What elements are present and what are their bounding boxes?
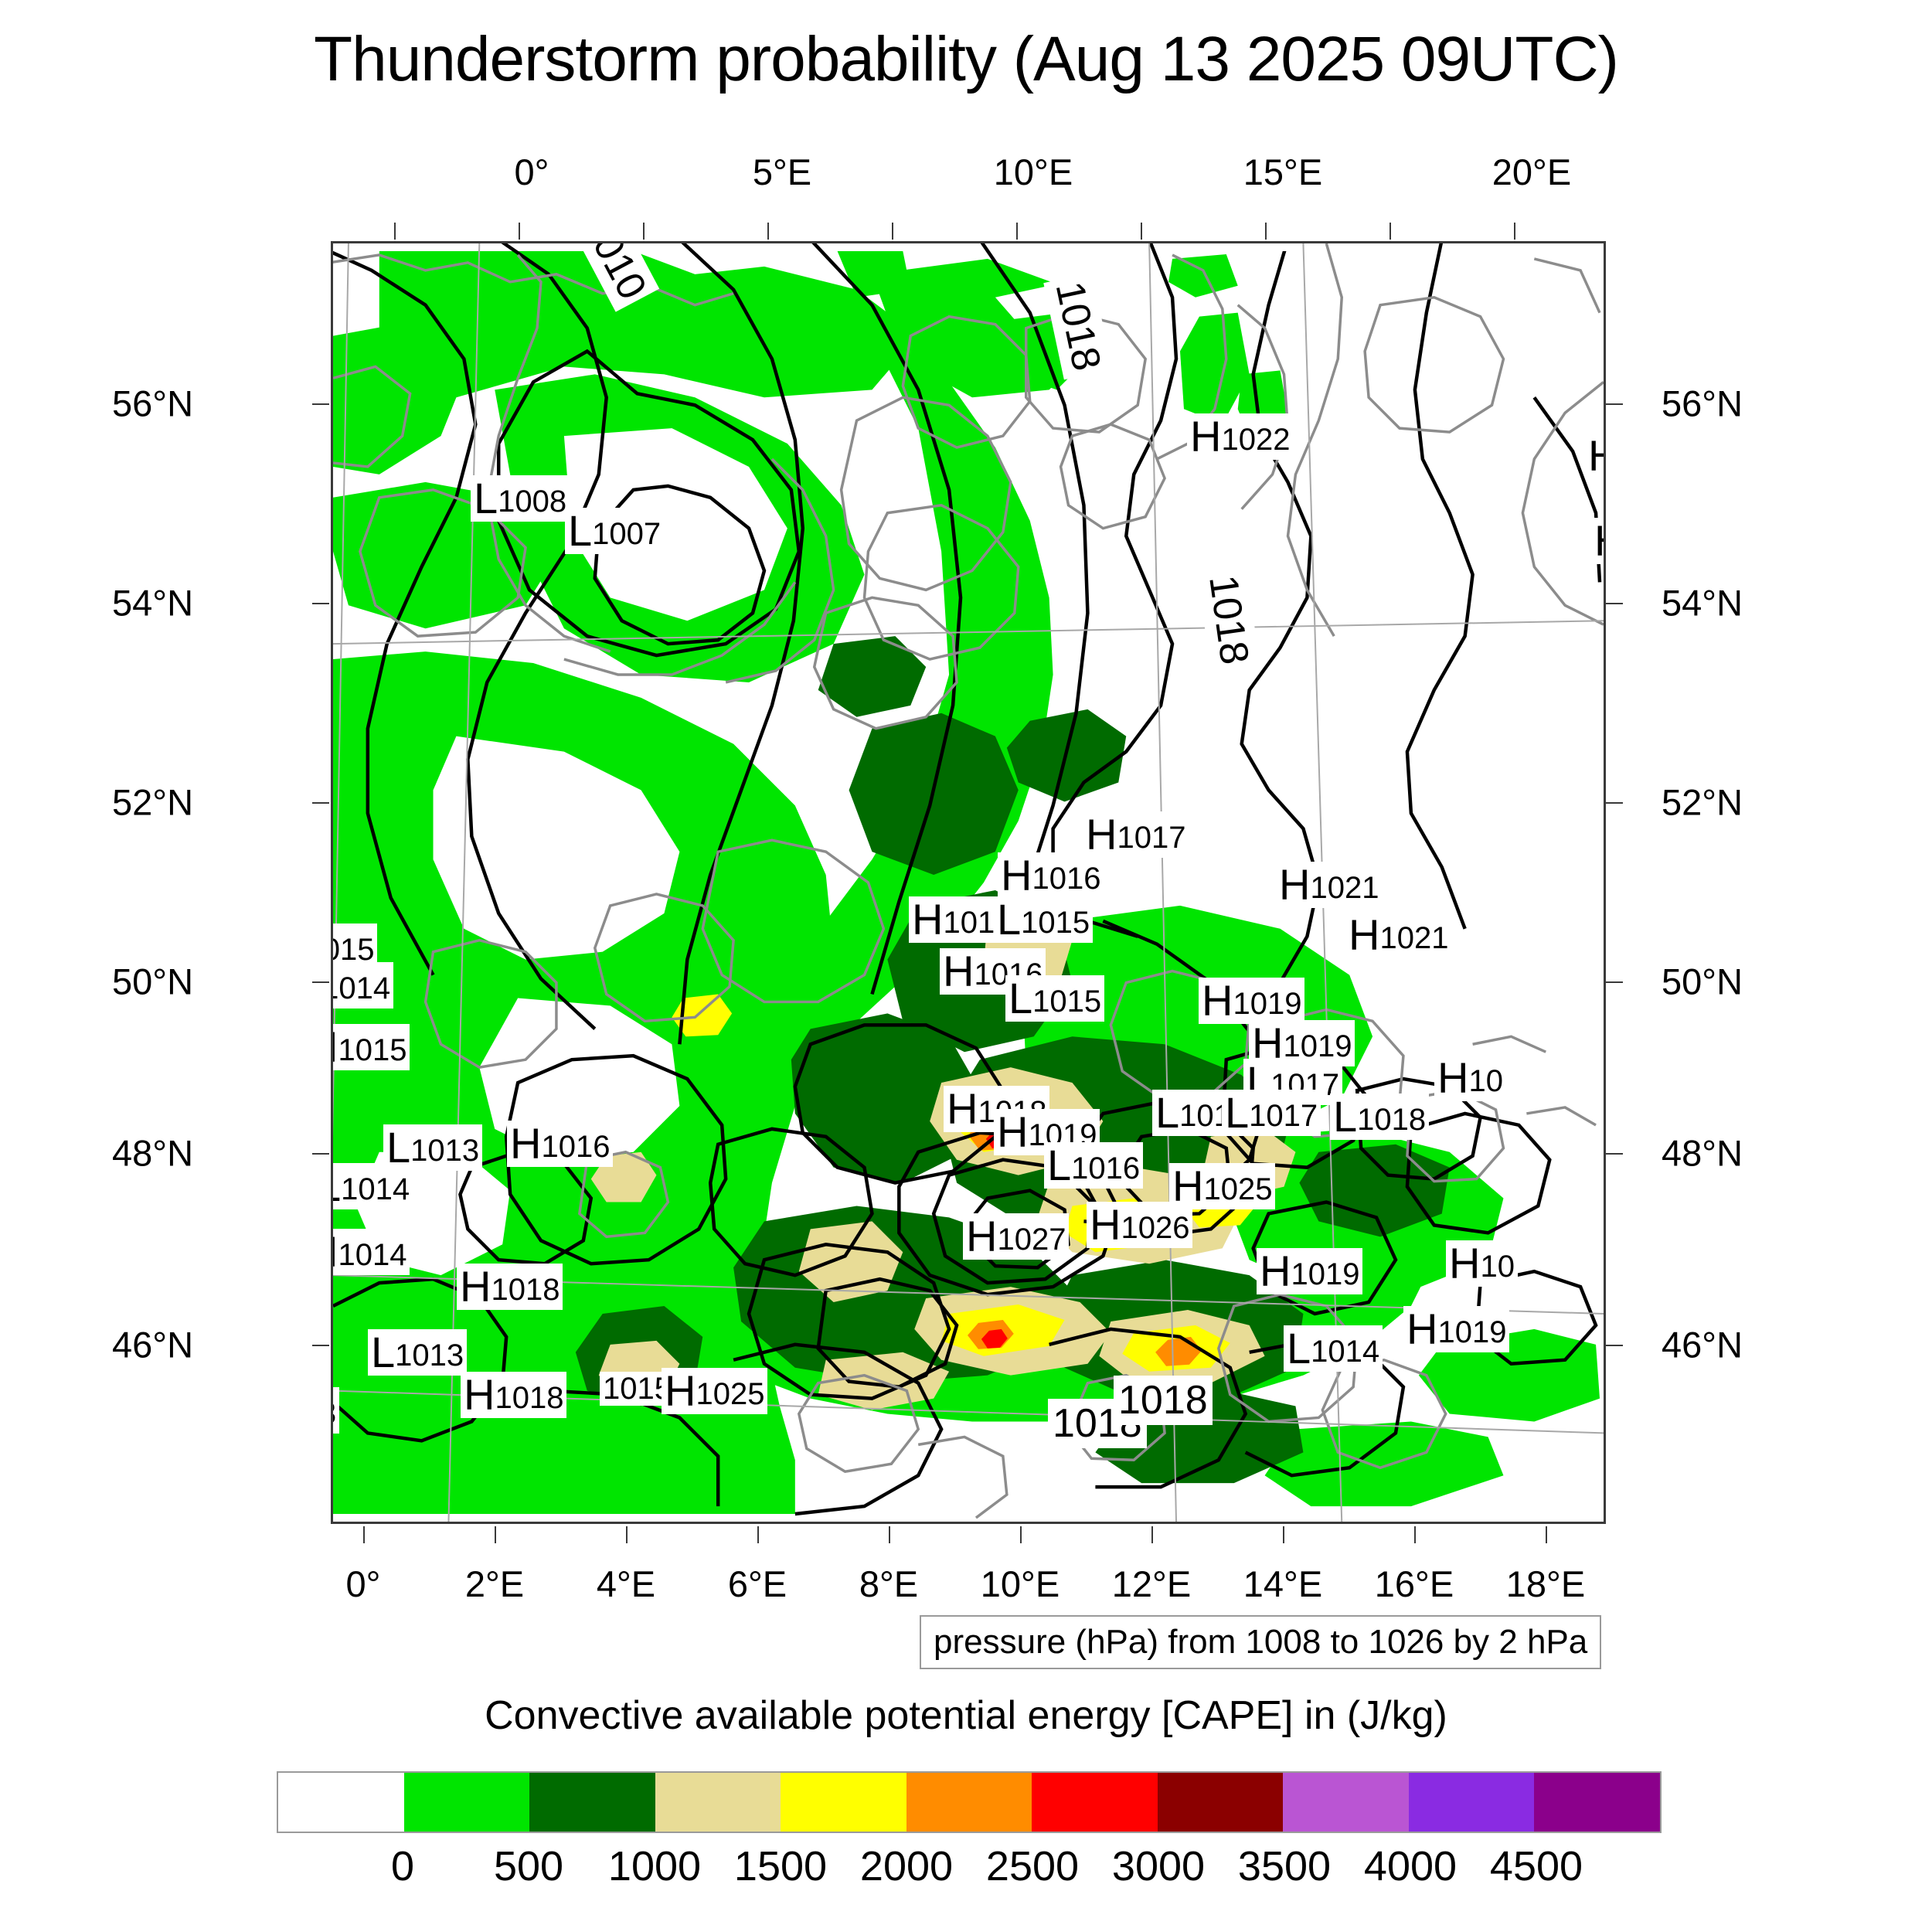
pressure-marker: L1015: [1005, 975, 1104, 1022]
colorbar-tick: 4500: [1490, 1842, 1583, 1890]
lat-tick-left: 48°N: [112, 1132, 193, 1175]
colorbar-tick: 4000: [1364, 1842, 1457, 1890]
pressure-marker: H10: [1585, 433, 1606, 479]
lat-tick-right: 54°N: [1662, 582, 1743, 624]
lon-tick-bottom: 18°E: [1506, 1563, 1585, 1605]
pressure-marker: H1026: [1087, 1202, 1192, 1248]
colorbar-segment: [1158, 1773, 1284, 1832]
pressure-marker: H1019: [1199, 978, 1304, 1024]
lat-tick-left: 46°N: [112, 1324, 193, 1366]
pressure-marker: H1016: [507, 1121, 613, 1167]
colorbar-segment: [1032, 1773, 1158, 1832]
lon-tick-bottom: 12°E: [1112, 1563, 1191, 1605]
pressure-marker: L1014: [331, 962, 393, 1009]
colorbar-segment: [529, 1773, 655, 1832]
pressure-marker: H1025: [662, 1368, 767, 1414]
pressure-marker: L1018: [1330, 1094, 1429, 1140]
pressure-marker: L1013: [331, 1387, 339, 1434]
pressure-marker: H1019: [1403, 1306, 1509, 1352]
lon-tick-bottom: 0°: [346, 1563, 381, 1605]
pressure-marker: H1016: [998, 852, 1104, 899]
colorbar-segment: [404, 1773, 530, 1832]
lon-tick-bottom: 4°E: [597, 1563, 655, 1605]
colorbar-segment: [781, 1773, 906, 1832]
colorbar-segment: [278, 1773, 404, 1832]
lon-tick-bottom: 2°E: [465, 1563, 524, 1605]
colorbar-tick: 1000: [608, 1842, 701, 1890]
lat-tick-right: 48°N: [1662, 1132, 1743, 1175]
colorbar-segment: [655, 1773, 781, 1832]
pressure-marker: L1021: [1195, 241, 1294, 251]
lat-tick-right: 50°N: [1662, 961, 1743, 1003]
colorbar-tick: 2000: [860, 1842, 953, 1890]
lat-tick-left: 52°N: [112, 781, 193, 824]
pressure-marker: H1015: [331, 1024, 410, 1070]
colorbar-segment: [906, 1773, 1032, 1832]
lon-tick-top: 0°: [515, 151, 549, 193]
page-title: Thunderstorm probability (Aug 13 2025 09…: [0, 23, 1932, 96]
contour-label: 1018: [1114, 1376, 1213, 1425]
pressure-marker: L1013: [383, 1124, 482, 1171]
pressure-marker: H1021: [1276, 862, 1382, 908]
colorbar-segment: [1534, 1773, 1660, 1832]
colorbar-tick: 1500: [734, 1842, 827, 1890]
lon-tick-top: 10°E: [994, 151, 1073, 193]
pressure-marker: H1027: [963, 1213, 1069, 1260]
cape-colorbar[interactable]: [277, 1771, 1662, 1833]
lat-tick-right: 52°N: [1662, 781, 1743, 824]
colorbar-tick-labels: 0 500 1000 1500 2000 2500 3000 3500 4000…: [277, 1842, 1662, 1896]
lon-tick-top: 5°E: [753, 151, 811, 193]
pressure-marker: H1021: [1345, 912, 1451, 958]
pressure-marker: L1013: [368, 1329, 467, 1376]
pressure-marker: L1007: [565, 508, 664, 554]
pressure-marker: H1017: [1083, 811, 1189, 858]
pressure-marker: H1018: [457, 1264, 563, 1310]
pressure-marker: H: [1591, 518, 1606, 564]
colorbar-tick: 0: [391, 1842, 414, 1890]
map-plot-area[interactable]: L1008 L1007 L1021 H1022 H10 H H1017 H101…: [331, 241, 1606, 1524]
lat-tick-left: 50°N: [112, 961, 193, 1003]
lon-tick-top: 15°E: [1243, 151, 1322, 193]
lat-tick-left: 54°N: [112, 582, 193, 624]
lat-tick-right: 56°N: [1662, 383, 1743, 425]
lon-tick-top: 20°E: [1492, 151, 1571, 193]
pressure-interval-note: pressure (hPa) from 1008 to 1026 by 2 hP…: [920, 1615, 1601, 1669]
lon-tick-bottom: 14°E: [1243, 1563, 1322, 1605]
colorbar-tick: 500: [494, 1842, 563, 1890]
colorbar-tick: 3500: [1238, 1842, 1331, 1890]
pressure-marker: H1014: [331, 1229, 410, 1275]
lat-tick-left: 56°N: [112, 383, 193, 425]
pressure-marker: L1008: [471, 475, 570, 522]
colorbar-segment: [1409, 1773, 1535, 1832]
colorbar-tick: 2500: [986, 1842, 1079, 1890]
pressure-marker: H10: [1434, 1055, 1506, 1101]
lon-tick-bottom: 16°E: [1375, 1563, 1454, 1605]
lon-tick-bottom: 10°E: [981, 1563, 1060, 1605]
pressure-marker: L1015: [994, 896, 1093, 943]
pressure-marker: H10: [1446, 1240, 1518, 1287]
pressure-marker: H1018: [461, 1372, 566, 1418]
pressure-marker: L1017: [1222, 1090, 1321, 1136]
lat-tick-right: 46°N: [1662, 1324, 1743, 1366]
pressure-marker: L1014: [1284, 1325, 1383, 1372]
colorbar-segment: [1283, 1773, 1409, 1832]
lon-tick-bottom: 6°E: [728, 1563, 787, 1605]
pressure-marker: H1022: [1187, 413, 1293, 460]
colorbar-tick: 3000: [1112, 1842, 1205, 1890]
pressure-marker: L1016: [1044, 1142, 1143, 1189]
colorbar-caption: Convective available potential energy [C…: [0, 1692, 1932, 1739]
pressure-marker: H1019: [1257, 1248, 1362, 1294]
lon-tick-bottom: 8°E: [859, 1563, 918, 1605]
